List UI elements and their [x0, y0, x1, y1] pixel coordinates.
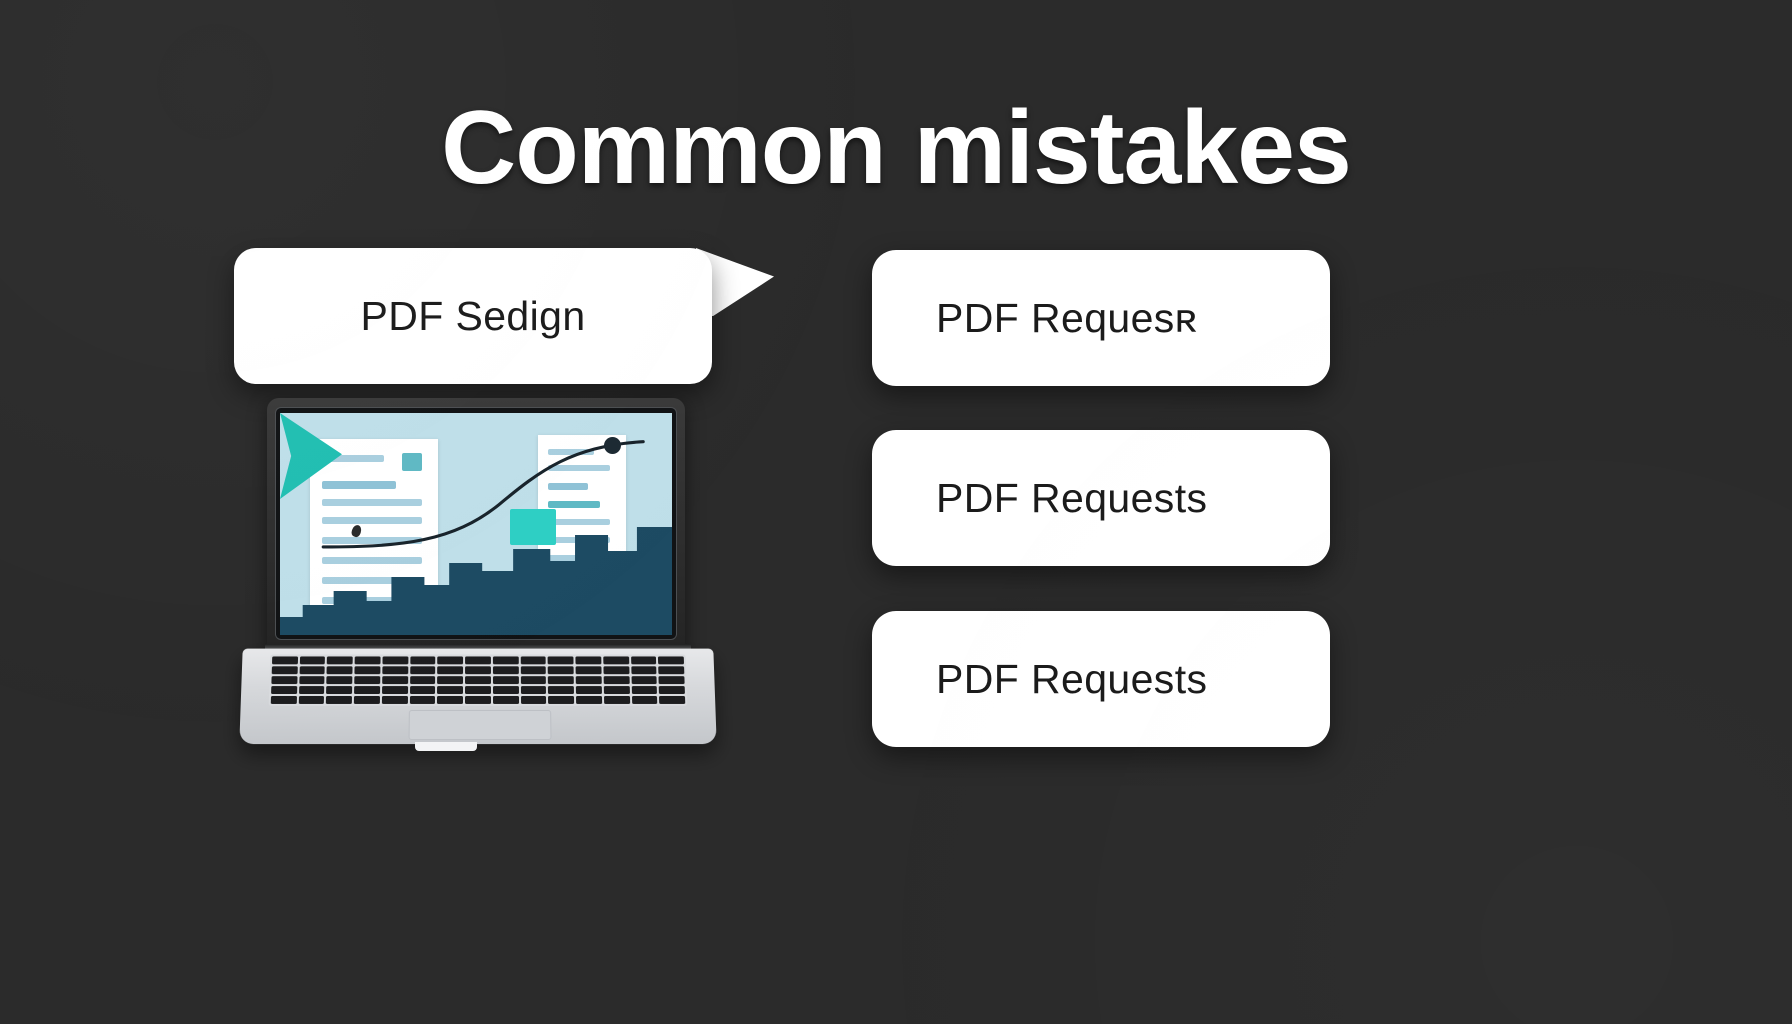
option-card-label: PDF Requests — [872, 475, 1207, 522]
speech-bubble-label: PDF Sedign — [234, 248, 712, 384]
option-card-label: PDF Requests — [872, 656, 1207, 703]
page-title: Common mistakes — [0, 96, 1792, 200]
laptop-base — [239, 649, 716, 744]
option-card[interactable]: PDF Requesʀ — [872, 250, 1330, 386]
laptop-trackpad[interactable] — [409, 710, 552, 740]
laptop-screen — [280, 413, 672, 635]
dark-dot-icon — [604, 437, 621, 454]
option-card[interactable]: PDF Requests — [872, 611, 1330, 747]
option-card-label: PDF Requesʀ — [872, 295, 1197, 342]
speech-bubble[interactable]: PDF Sedign — [234, 248, 712, 384]
laptop-illustration — [205, 398, 750, 768]
option-card[interactable]: PDF Requests — [872, 430, 1330, 566]
laptop-foot — [415, 742, 477, 751]
slide-canvas: Common mistakes PDF Sedign PDF Requesʀ P… — [0, 0, 1792, 1024]
laptop-bezel — [275, 407, 677, 640]
laptop-keyboard[interactable] — [269, 654, 688, 705]
laptop-lid — [267, 398, 685, 652]
